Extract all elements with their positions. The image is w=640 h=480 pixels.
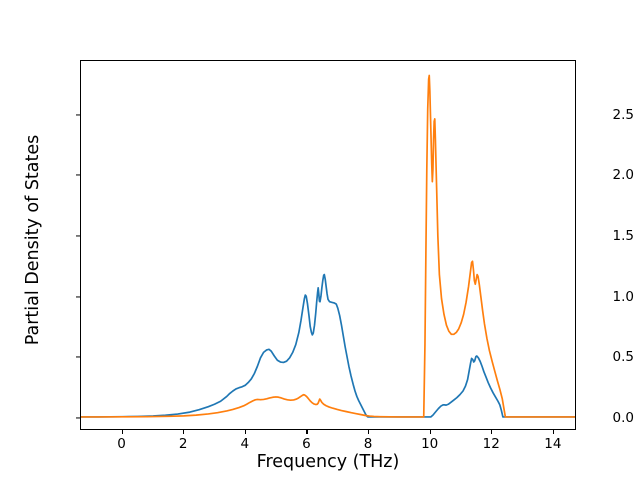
y-axis-label: Partial Density of States [22, 55, 44, 425]
y-tick-label: 1.0 [578, 289, 640, 305]
x-tick-mark [306, 430, 307, 434]
y-tick-label: 1.5 [578, 228, 640, 244]
y-tick-label: 0.0 [578, 410, 640, 426]
curve-series-2 [81, 75, 575, 416]
plot-area [80, 60, 576, 430]
x-tick-label: 10 [410, 436, 450, 452]
figure-canvas: Partial Density of States 0.00.51.01.52.… [0, 0, 640, 480]
x-tick-mark [430, 430, 431, 434]
x-tick-label: 12 [471, 436, 511, 452]
x-tick-label: 0 [102, 436, 142, 452]
x-axis-label: Frequency (THz) [80, 452, 576, 472]
y-tick-label: 0.5 [578, 349, 640, 365]
x-tick-label: 8 [348, 436, 388, 452]
x-tick-label: 4 [225, 436, 265, 452]
y-tick-label: 2.5 [578, 107, 640, 123]
x-tick-mark [553, 430, 554, 434]
x-tick-mark [491, 430, 492, 434]
x-tick-mark [368, 430, 369, 434]
data-curves [81, 61, 575, 429]
x-tick-label: 2 [163, 436, 203, 452]
x-tick-mark [183, 430, 184, 434]
y-tick-label: 2.0 [578, 167, 640, 183]
x-tick-label: 14 [533, 436, 573, 452]
x-tick-mark [245, 430, 246, 434]
x-tick-label: 6 [286, 436, 326, 452]
x-tick-mark [122, 430, 123, 434]
